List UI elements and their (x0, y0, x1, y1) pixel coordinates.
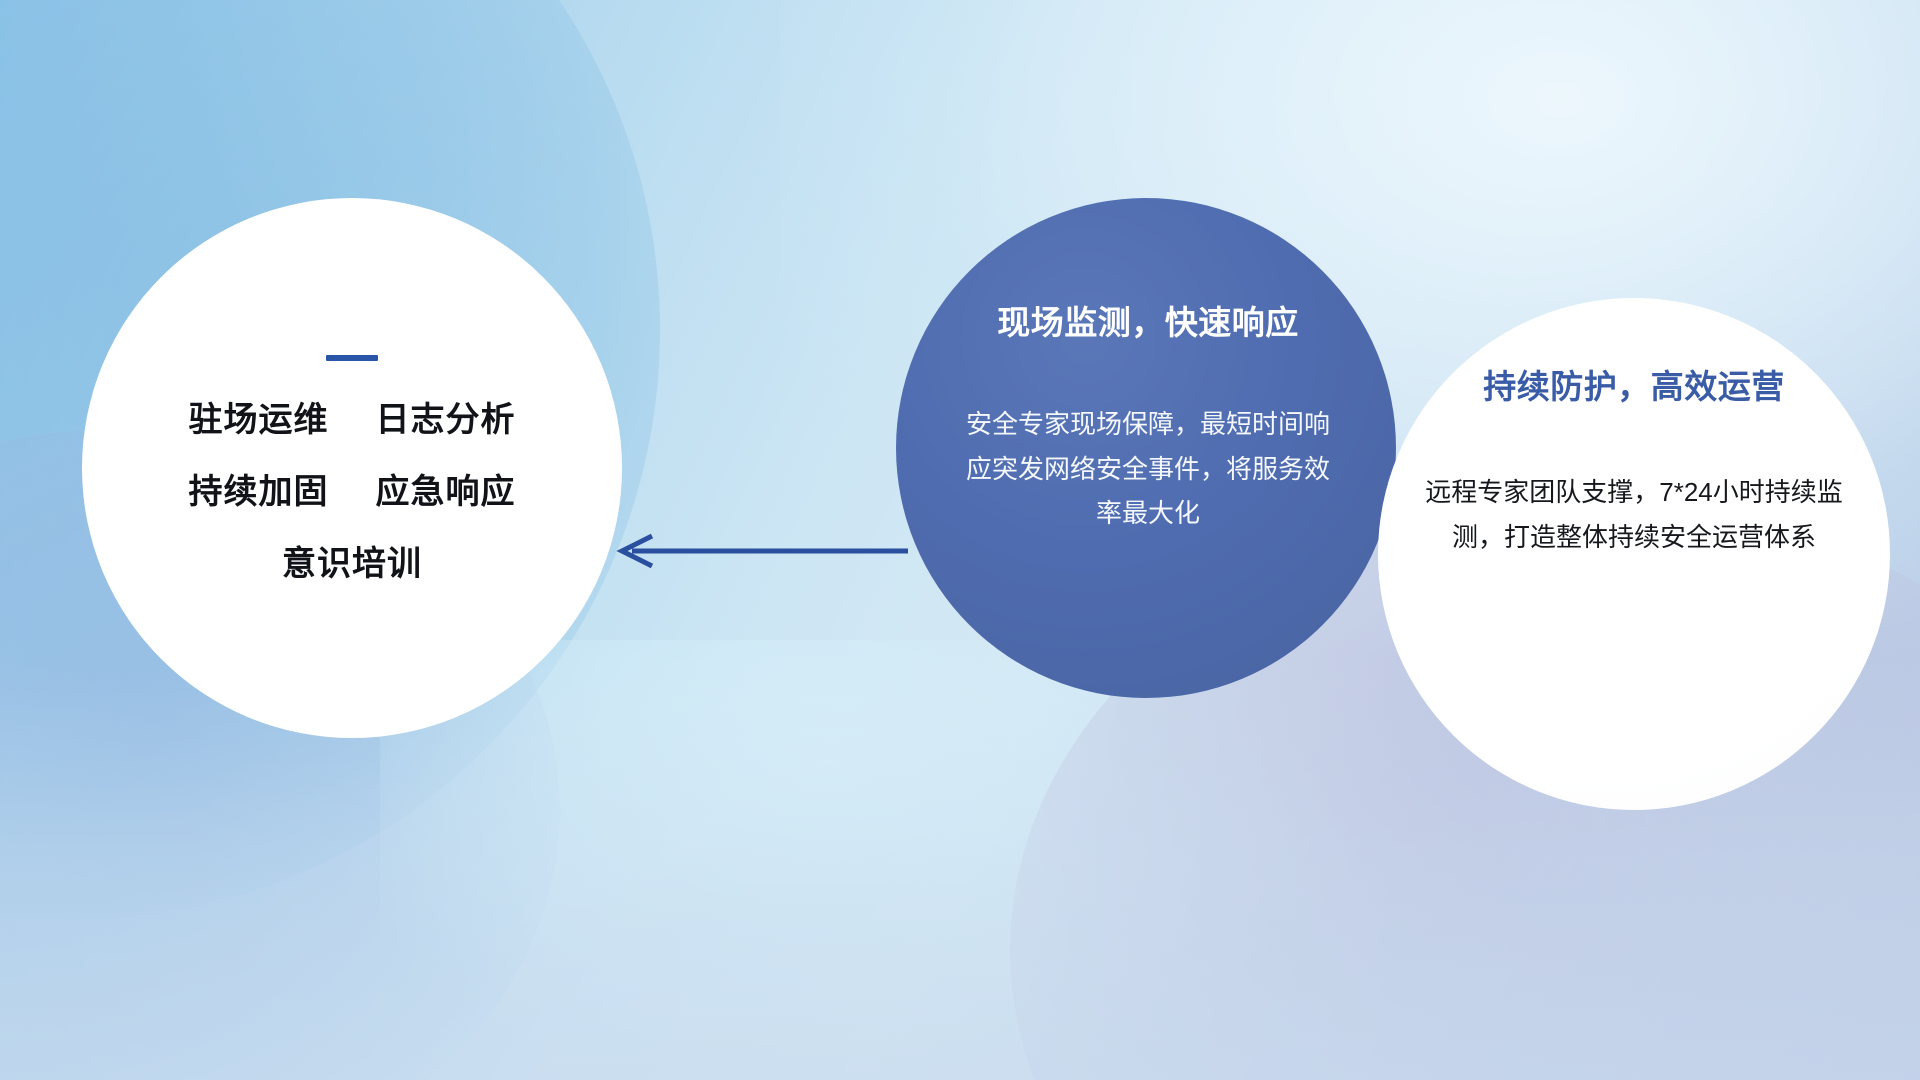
horizontal-dash-icon (326, 355, 378, 361)
slide-canvas: 驻场运维 日志分析 持续加固 应急响应 意识培训 现场监测，快速响应 安全专家现… (0, 0, 1920, 1080)
keyword-row-1: 驻场运维 日志分析 (118, 403, 586, 437)
middle-circle-content: 现场监测，快速响应 安全专家现场保障，最短时间响应突发网络安全事件，将服务效率最… (896, 198, 1396, 698)
middle-blue-circle[interactable]: 现场监测，快速响应 安全专家现场保障，最短时间响应突发网络安全事件，将服务效率最… (896, 198, 1396, 698)
keyword-chixujiagu: 持续加固 (189, 473, 329, 511)
middle-circle-title: 现场监测，快速响应 (936, 296, 1360, 344)
left-pointing-arrow-icon (608, 524, 908, 578)
keyword-row-3: 意识培训 (118, 547, 586, 581)
keyword-zhuchangyunwei: 驻场运维 (189, 401, 329, 439)
arrow-svg (608, 524, 908, 578)
right-circle-title: 持续防护，高效运营 (1406, 360, 1862, 408)
keyword-rizhifenxi: 日志分析 (375, 401, 515, 439)
right-circle-body: 远程专家团队支撑，7*24小时持续监测，打造整体持续安全运营体系 (1406, 470, 1862, 559)
right-white-circle[interactable]: 持续防护，高效运营 远程专家团队支撑，7*24小时持续监测，打造整体持续安全运营… (1378, 298, 1890, 810)
right-circle-content: 持续防护，高效运营 远程专家团队支撑，7*24小时持续监测，打造整体持续安全运营… (1378, 298, 1890, 810)
keyword-row-2: 持续加固 应急响应 (118, 475, 586, 509)
keyword-yishipeixun: 意识培训 (282, 545, 422, 583)
keyword-yingjixiangying: 应急响应 (375, 473, 515, 511)
left-circle-content: 驻场运维 日志分析 持续加固 应急响应 意识培训 (82, 355, 622, 581)
left-keyword-circle[interactable]: 驻场运维 日志分析 持续加固 应急响应 意识培训 (82, 198, 622, 738)
middle-circle-body: 安全专家现场保障，最短时间响应突发网络安全事件，将服务效率最大化 (936, 402, 1360, 536)
